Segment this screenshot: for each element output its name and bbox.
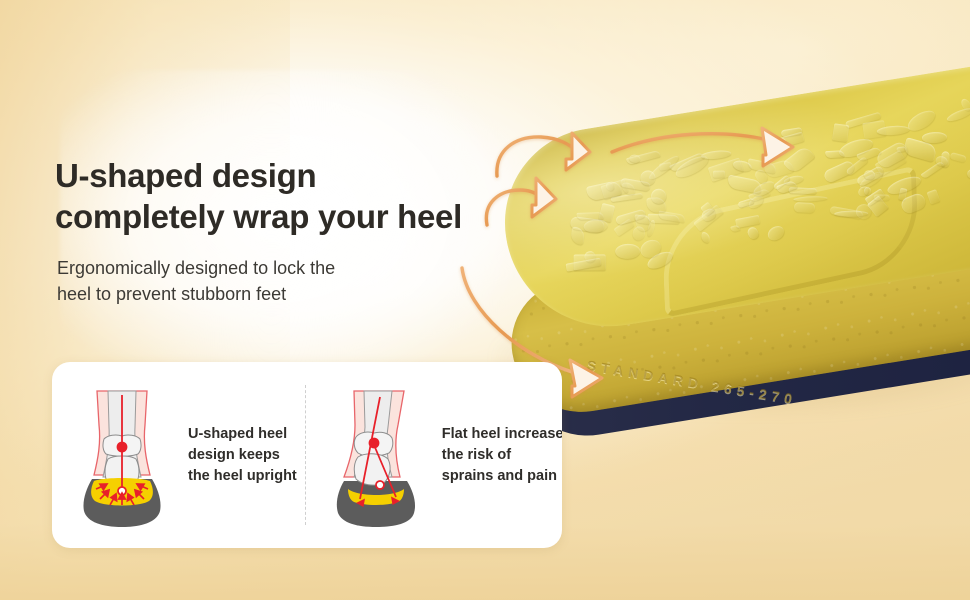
flat-heel-diagram: [324, 381, 428, 529]
emboss-shape: [921, 161, 945, 180]
emboss-shape: [927, 190, 940, 205]
emboss-shape: [966, 169, 970, 182]
u-shaped-text-line-1: U-shaped heel: [188, 424, 297, 445]
subtext-line-1: Ergonomically designed to lock the: [57, 255, 477, 281]
emboss-shape: [746, 226, 760, 241]
emboss-shape: [629, 154, 641, 163]
flat-heel-text-line-1: Flat heel increases: [442, 424, 562, 445]
emboss-shape: [905, 107, 938, 135]
emboss-shape: [945, 105, 970, 123]
emboss-shape: [615, 243, 641, 259]
comparison-item-flat-heel: Flat heel increases the risk of sprains …: [306, 362, 562, 548]
emboss-shape: [775, 131, 804, 148]
emboss-shape: [794, 202, 816, 213]
comparison-card: U-shaped heel design keeps the heel upri…: [52, 362, 562, 548]
emboss-shape: [765, 223, 787, 243]
comparison-text-flat-heel: Flat heel increases the risk of sprains …: [428, 424, 562, 487]
emboss-shape: [658, 162, 671, 171]
comparison-item-u-shaped: U-shaped heel design keeps the heel upri…: [52, 362, 305, 548]
emboss-shape: [832, 123, 849, 141]
emboss-shape: [874, 195, 890, 202]
emboss-shape: [949, 152, 966, 163]
flat-heel-text-line-3: sprains and pain: [442, 466, 562, 487]
headline-line-2: completely wrap your heel: [55, 196, 595, 237]
u-shaped-heel-diagram: [70, 381, 174, 529]
page-title: U-shaped design completely wrap your hee…: [55, 155, 595, 237]
u-shaped-text-line-3: the heel upright: [188, 466, 297, 487]
flat-heel-text-line-2: the risk of: [442, 445, 562, 466]
promo-banner: STANDARD 265-270: [0, 0, 970, 600]
u-shaped-text-line-2: design keeps: [188, 445, 297, 466]
comparison-text-u-shaped: U-shaped heel design keeps the heel upri…: [174, 424, 297, 487]
page-subtitle: Ergonomically designed to lock the heel …: [57, 255, 477, 307]
emboss-shape: [793, 195, 827, 201]
emboss-shape: [825, 150, 844, 158]
subtext-line-2: heel to prevent stubborn feet: [57, 281, 477, 307]
emboss-shape: [700, 231, 711, 243]
headline-line-1: U-shaped design: [55, 155, 595, 196]
emboss-shape: [921, 131, 946, 143]
